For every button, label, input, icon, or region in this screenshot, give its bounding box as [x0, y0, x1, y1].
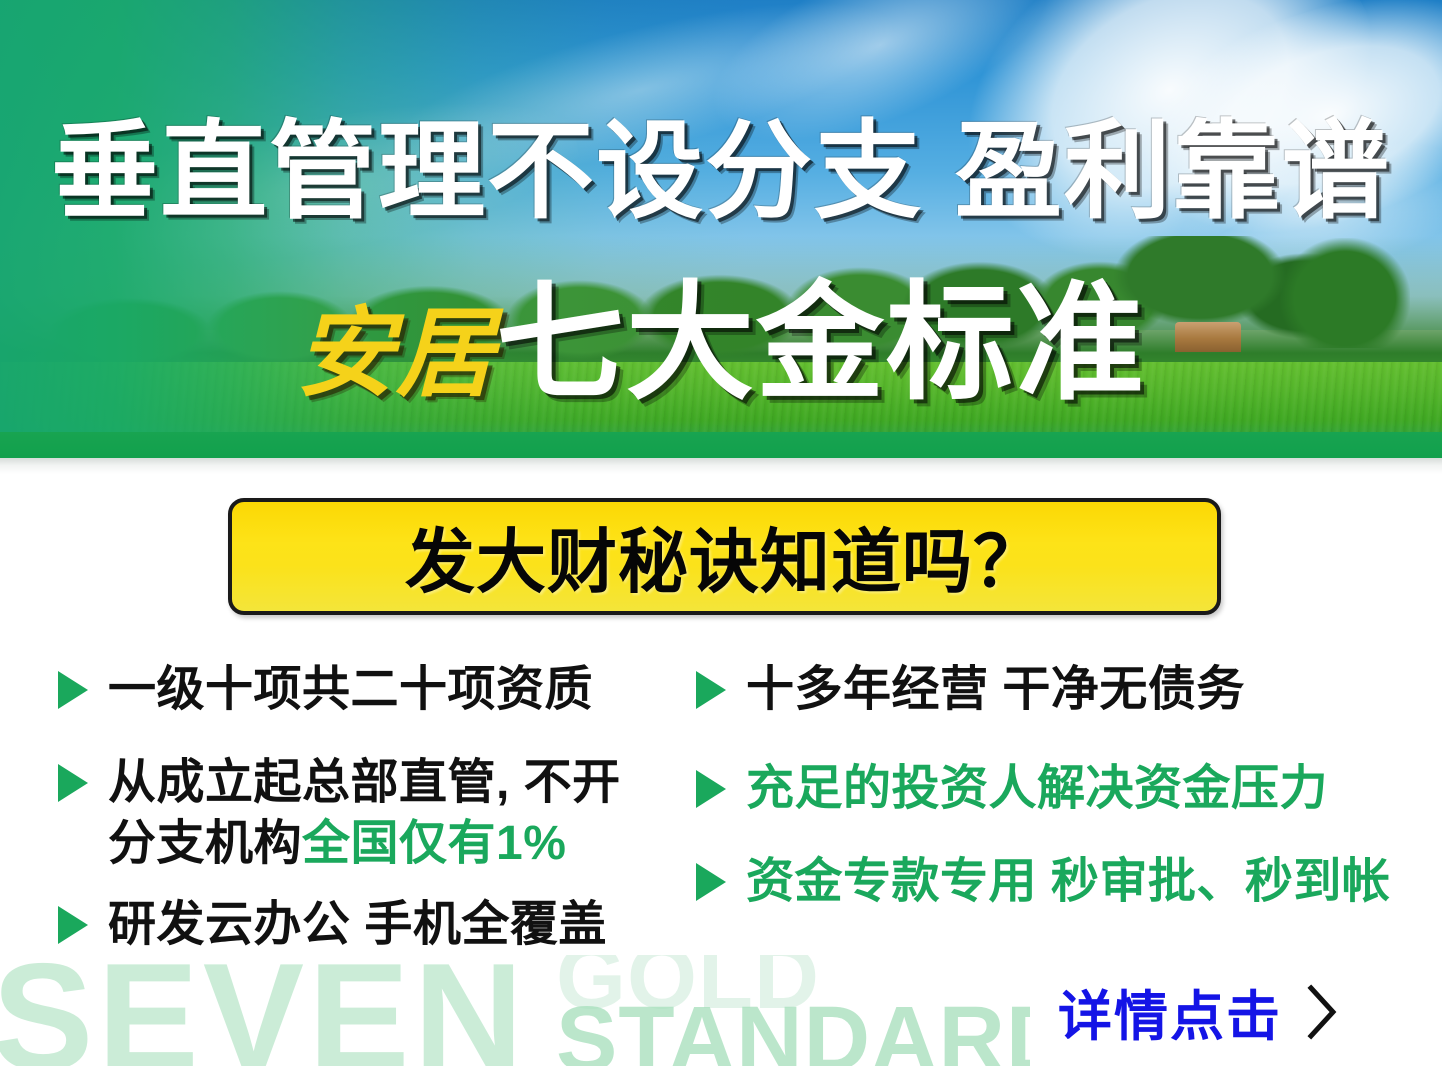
feature-text: 充足的投资人解决资金压力	[746, 759, 1328, 820]
promo-banner-page: 垂直管理不设分支 盈利靠谱 安居七大金标准 发大财秘诀知道吗？ 一级十项共二十项…	[0, 0, 1442, 1066]
hero-banner: 垂直管理不设分支 盈利靠谱 安居七大金标准	[0, 0, 1442, 458]
feature-line: 分支机构全国仅有1%	[108, 814, 621, 875]
feature-item-cloud-office: 研发云办公 手机全覆盖	[58, 895, 698, 956]
triangle-right-icon	[696, 770, 726, 808]
triangle-right-icon	[58, 671, 88, 709]
feature-text: 研发云办公 手机全覆盖	[108, 895, 607, 956]
feature-item-direct-management: 从成立起总部直管, 不开 分支机构全国仅有1%	[58, 753, 698, 875]
feature-line: 充足的投资人解决资金压力	[746, 759, 1328, 820]
feature-text: 从成立起总部直管, 不开 分支机构全国仅有1%	[108, 753, 621, 875]
detail-link-label: 详情点击	[1058, 972, 1282, 1051]
feature-line: 十多年经营 干净无债务	[746, 660, 1245, 721]
triangle-right-icon	[58, 906, 88, 944]
feature-list: 一级十项共二十项资质 从成立起总部直管, 不开 分支机构全国仅有1% 研发云办公…	[0, 660, 1442, 990]
headline-cta-button[interactable]: 发大财秘诀知道吗？	[228, 498, 1221, 615]
feature-column-right: 十多年经营 干净无债务 充足的投资人解决资金压力 资金专款专用 秒审批、秒到帐	[696, 660, 1416, 939]
watermark-standards: STANDARDS	[556, 993, 1030, 1066]
hero-bottom-band	[0, 432, 1442, 458]
chevron-right-icon	[1306, 984, 1340, 1040]
triangle-right-icon	[696, 671, 726, 709]
hero-brand-text: 安居	[296, 298, 496, 408]
feature-line-highlight: 全国仅有1%	[302, 817, 566, 870]
hero-headline-secondary: 安居七大金标准	[0, 274, 1442, 415]
hero-standards-text: 七大金标准	[496, 272, 1146, 415]
feature-line-plain: 分支机构	[108, 817, 302, 870]
headline-cta-label: 发大财秘诀知道吗？	[405, 506, 1044, 607]
feature-text: 一级十项共二十项资质	[108, 660, 593, 721]
feature-text: 十多年经营 干净无债务	[746, 660, 1245, 721]
feature-item-years-operating: 十多年经营 干净无债务	[696, 660, 1416, 721]
feature-line: 一级十项共二十项资质	[108, 660, 593, 721]
hero-headline-primary: 垂直管理不设分支 盈利靠谱	[0, 112, 1442, 232]
hero-drop-shadow	[0, 458, 1442, 474]
feature-line: 从成立起总部直管, 不开	[108, 753, 621, 814]
feature-line: 资金专款专用 秒审批、秒到帐	[746, 852, 1390, 913]
feature-item-dedicated-funds: 资金专款专用 秒审批、秒到帐	[696, 852, 1416, 913]
triangle-right-icon	[696, 863, 726, 901]
feature-line: 研发云办公 手机全覆盖	[108, 895, 607, 956]
detail-link[interactable]: 详情点击	[1058, 972, 1340, 1051]
feature-item-investors: 充足的投资人解决资金压力	[696, 759, 1416, 820]
feature-item-qualifications: 一级十项共二十项资质	[58, 660, 698, 721]
feature-column-left: 一级十项共二十项资质 从成立起总部直管, 不开 分支机构全国仅有1% 研发云办公…	[58, 660, 698, 982]
feature-text: 资金专款专用 秒审批、秒到帐	[746, 852, 1390, 913]
triangle-right-icon	[58, 764, 88, 802]
